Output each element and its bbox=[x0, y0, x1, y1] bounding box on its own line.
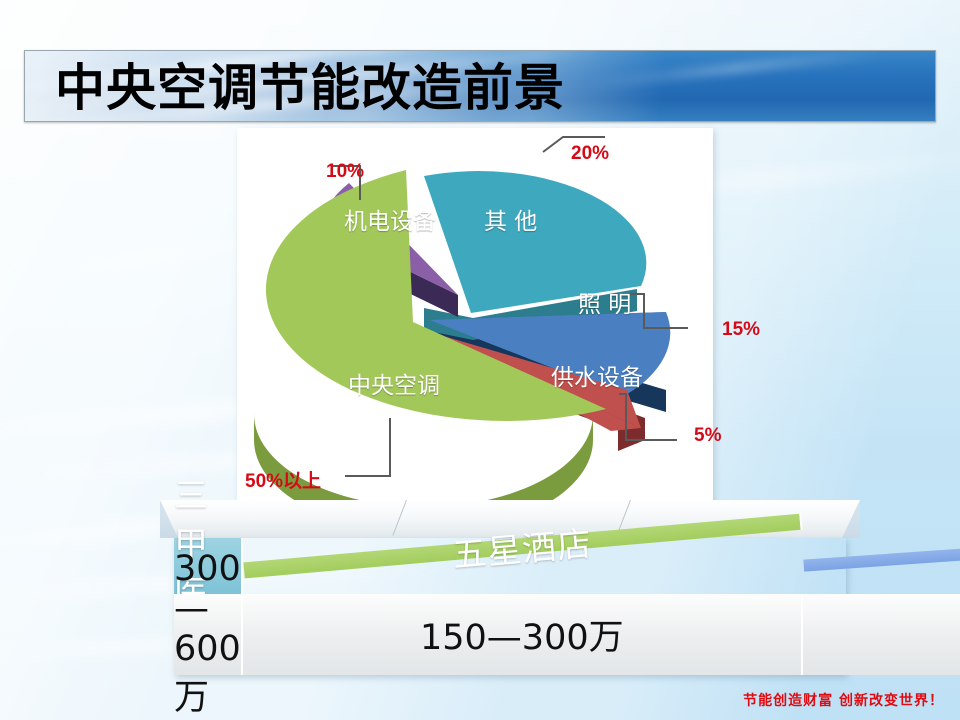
pie-value-lighting: 15% bbox=[722, 319, 760, 341]
pie-label-lighting: 照 明 bbox=[578, 285, 631, 319]
comparison-table: 三甲医院 五星酒店 大型商场 300—600万 150—300万 100—200… bbox=[160, 500, 860, 675]
banner-streak bbox=[585, 50, 884, 88]
pie-label-mechanical: 机电设备 bbox=[344, 202, 436, 236]
table-cell-hotel-cost: 150—300万 bbox=[243, 594, 803, 675]
pie-chart-svg bbox=[237, 128, 713, 505]
pie-label-other: 其 他 bbox=[484, 202, 537, 236]
pie-value-air-conditioning: 50%以上 bbox=[245, 466, 321, 493]
table-grid: 三甲医院 五星酒店 大型商场 300—600万 150—300万 100—200… bbox=[174, 538, 846, 675]
footer-slogan: 节能创造财富 创新改变世界！ bbox=[743, 690, 944, 710]
pie-value-other: 20% bbox=[571, 143, 609, 165]
slide-title-banner: 中央空调节能改造前景 bbox=[24, 50, 936, 122]
pie-label-water-supply: 供水设备 bbox=[551, 358, 643, 392]
pie-value-water-supply: 5% bbox=[694, 425, 721, 447]
pie-value-mechanical: 10% bbox=[326, 161, 364, 183]
leader-line-air-conditioning bbox=[345, 418, 390, 476]
table-top-fold-line bbox=[392, 500, 407, 536]
table-cell-mall-cost: 100—200万 bbox=[803, 594, 960, 675]
table-cell-hospital-cost: 300—600万 bbox=[174, 594, 243, 675]
pie-chart-panel bbox=[237, 128, 713, 505]
pie-label-air-conditioning: 中央空调 bbox=[348, 366, 440, 400]
table-top-right-bevel bbox=[842, 500, 860, 538]
page-title: 中央空调节能改造前景 bbox=[55, 53, 565, 122]
